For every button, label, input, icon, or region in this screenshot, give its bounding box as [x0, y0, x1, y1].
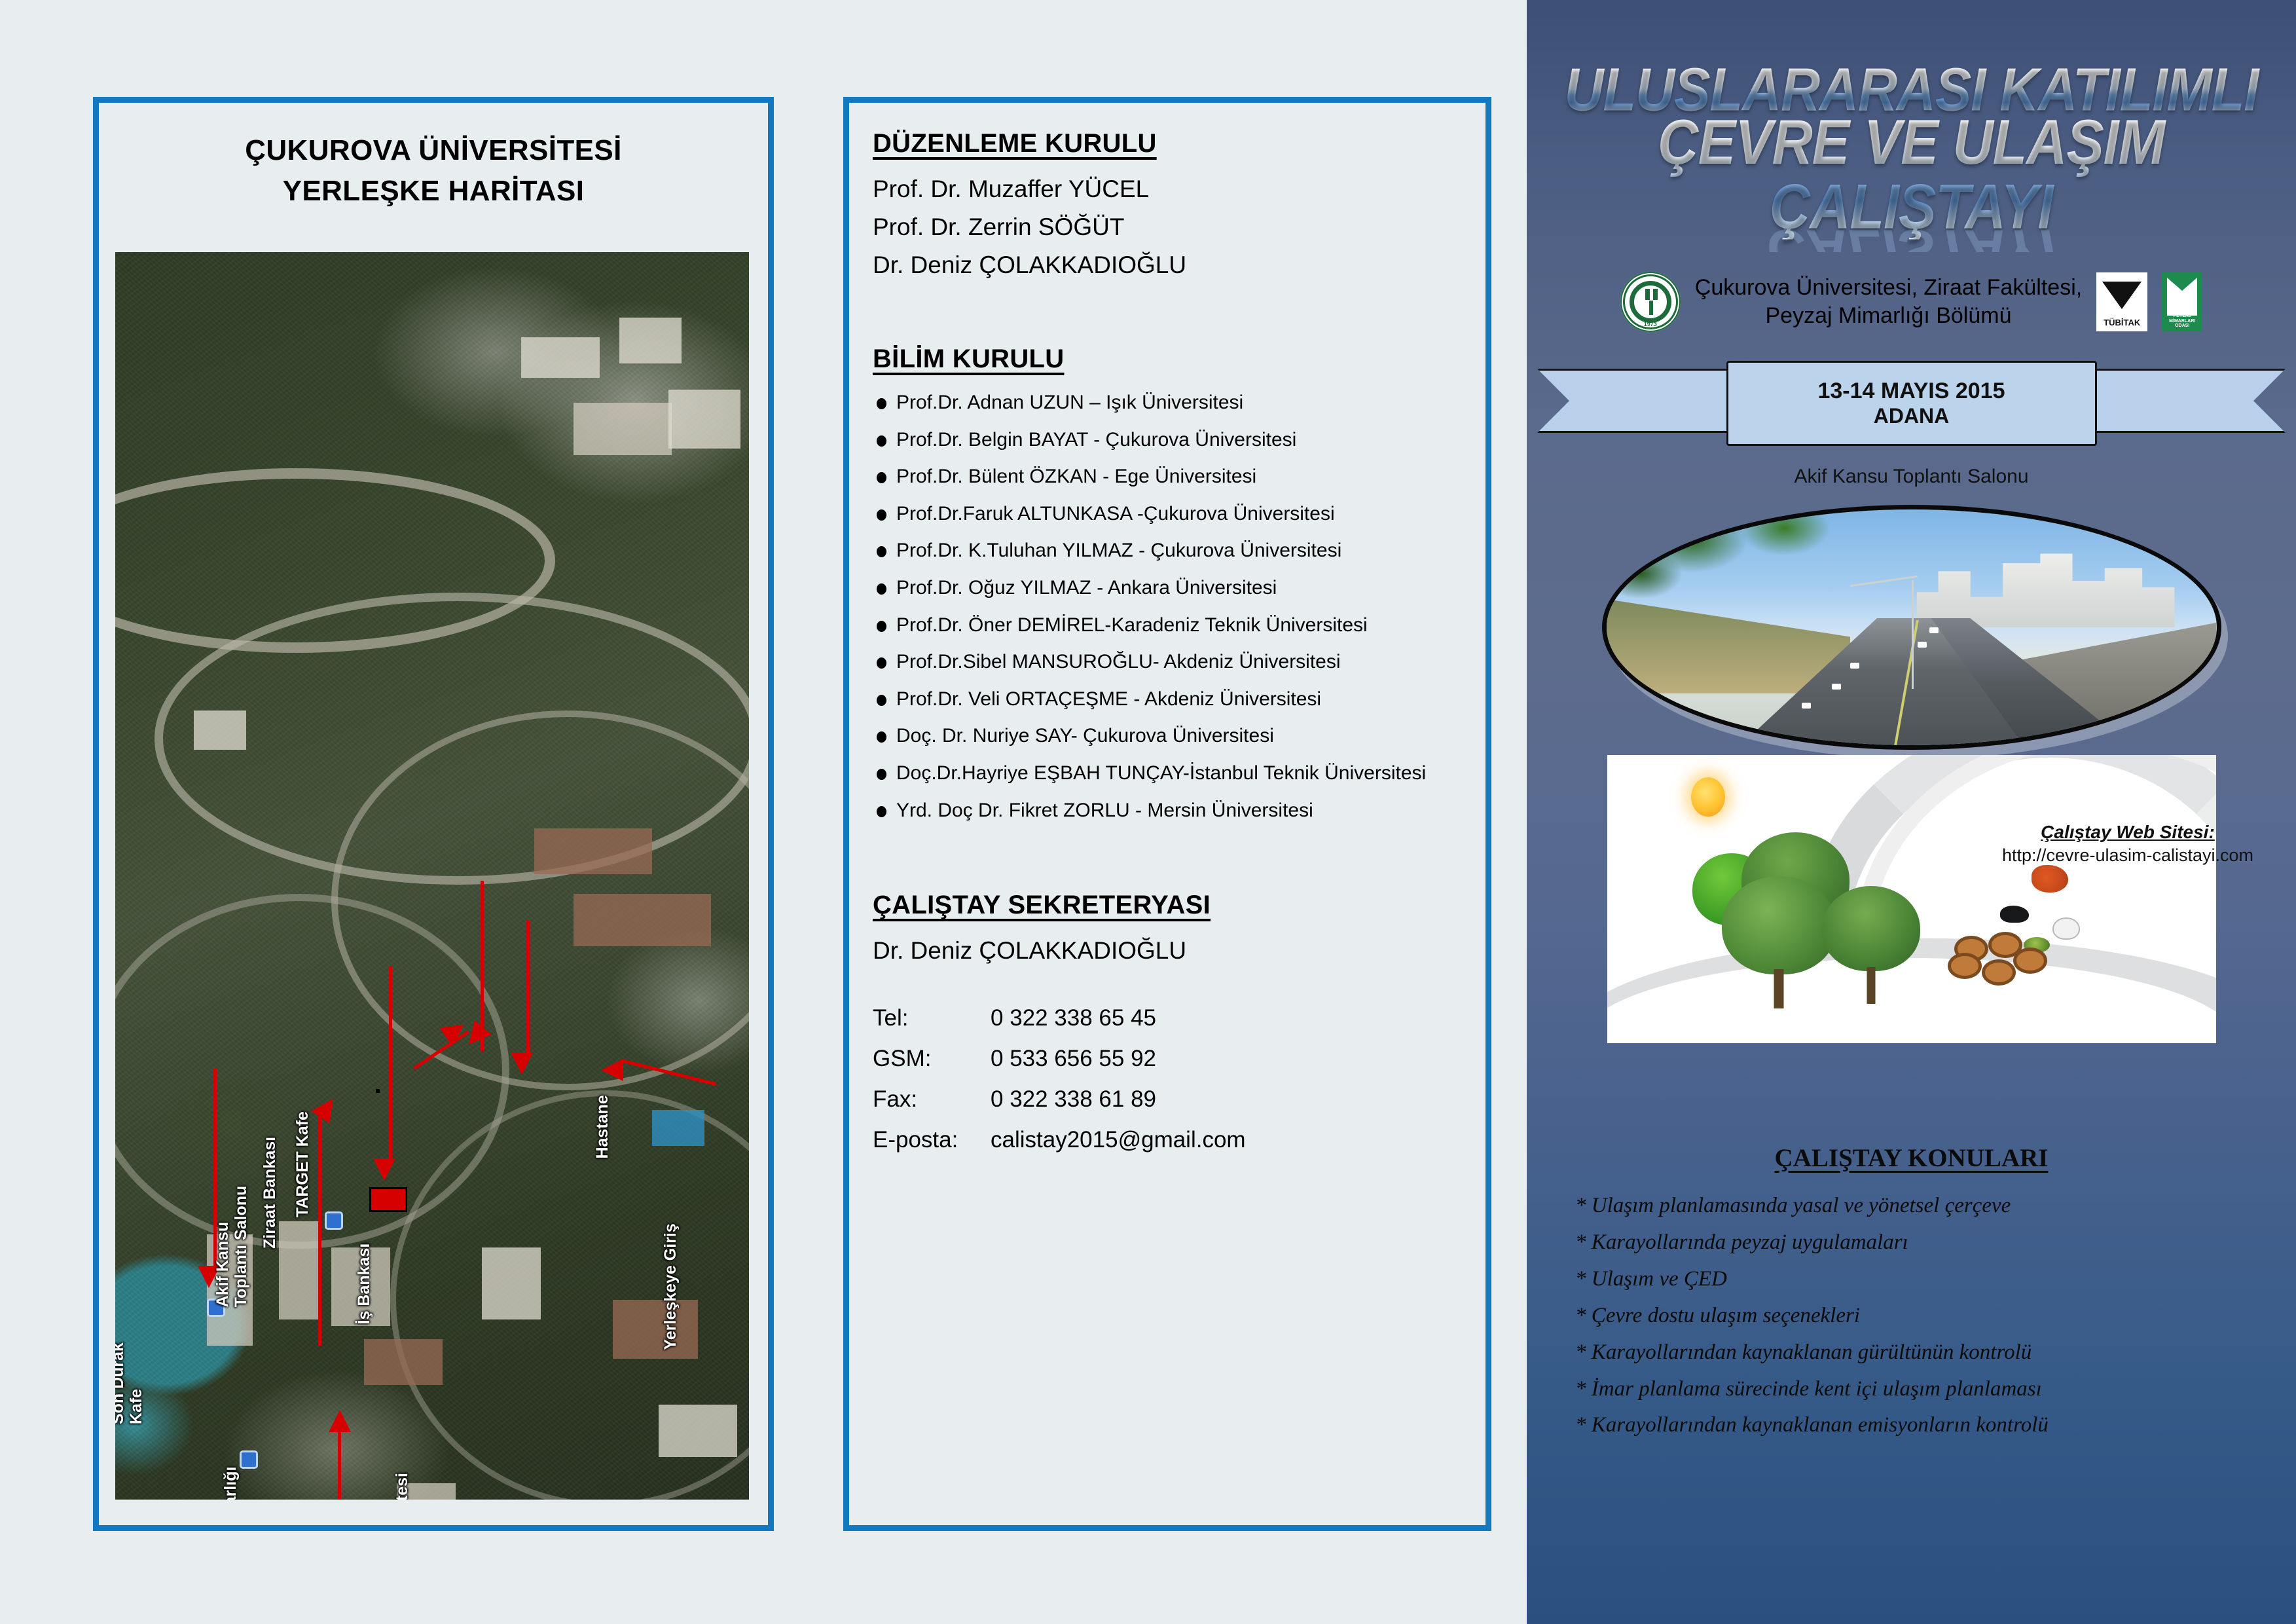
- scientific-member: Prof.Dr. K.Tuluhan YILMAZ - Çukurova Üni…: [873, 539, 1466, 563]
- organizing-member: Dr. Deniz ÇOLAKKADIOĞLU: [873, 251, 1466, 279]
- contact-row-tel: Tel: 0 322 338 65 45: [873, 1005, 1466, 1031]
- poster-title-line2: ÇEVRE VE ULAŞIM ÇALIŞTAYI: [1527, 111, 2296, 239]
- contact-label: E-posta:: [873, 1127, 991, 1153]
- contact-block: Tel: 0 322 338 65 45 GSM: 0 533 656 55 9…: [873, 1005, 1466, 1153]
- contact-value: 0 533 656 55 92: [991, 1046, 1466, 1072]
- topics-heading: ÇALIŞTAY KONULARI: [1563, 1143, 2259, 1173]
- poster-title: ULUSLARARASI KATILIMLI ÇEVRE VE ULAŞIM Ç…: [1527, 0, 2296, 232]
- logo-bar: [1653, 289, 1658, 300]
- map-pin: [325, 1211, 343, 1230]
- map-building: [482, 1247, 541, 1319]
- organizer-text: Çukurova Üniversitesi, Ziraat Fakültesi,…: [1695, 274, 2082, 331]
- scientific-member: Prof.Dr. Bülent ÖZKAN - Ege Üniversitesi: [873, 465, 1466, 489]
- photo-car: [1802, 703, 1811, 709]
- map-building: [521, 337, 600, 378]
- scientific-member: Prof.Dr.Faruk ALTUNKASA -Çukurova Üniver…: [873, 502, 1466, 526]
- photo-foliage: [1607, 509, 1893, 613]
- map-building: [659, 1405, 737, 1457]
- topic-item: Karayollarından kaynaklanan emisyonların…: [1575, 1412, 2259, 1439]
- map-label-cukurova-universitesi: Çukurova Üniversitesi: [393, 1473, 411, 1500]
- ribbon-left-tail: [1537, 369, 1738, 433]
- event-venue: Akif Kansu Toplantı Salonu: [1527, 466, 2296, 488]
- tree-stump: [1948, 953, 1982, 979]
- map-label-peyzaj-mimarligi-bolumu: Peyzaj Mimarlığı Bölümü: [221, 1467, 258, 1500]
- map-label-hastane: Hastane: [593, 1095, 611, 1158]
- tubitak-logo-text: TÜBİTAK: [2096, 318, 2147, 327]
- website-block: Çalıştay Web Sitesi: http://cevre-ulasim…: [1987, 822, 2269, 866]
- tubitak-logo: TÜBİTAK: [2096, 272, 2147, 331]
- map-venue-marker: [369, 1187, 407, 1212]
- logo-bar: [1645, 289, 1650, 300]
- contact-label: Fax:: [873, 1086, 991, 1113]
- map-label-yerleskeye-giris: Yerleşkeye Giriş: [661, 1223, 680, 1350]
- logo-year: 1973: [1620, 321, 1681, 327]
- secretariat-heading: ÇALIŞTAY SEKRETERYASI: [873, 891, 1466, 920]
- map-title-line2: YERLEŞKE HARİTASI: [99, 171, 768, 212]
- scientific-member: Prof.Dr.Sibel MANSUROĞLU- Akdeniz Üniver…: [873, 650, 1466, 674]
- map-arrow: [526, 920, 530, 1058]
- photo-car: [1918, 642, 1927, 648]
- scientific-member: Yrd. Doç Dr. Fikret ZORLU - Mersin Ünive…: [873, 799, 1466, 823]
- map-label-son-durak-kafe: Son Durak Kafe: [115, 1342, 145, 1424]
- topic-item: İmar planlama sürecinde kent içi ulaşım …: [1575, 1376, 2259, 1403]
- map-title-line1: ÇUKUROVA ÜNİVERSİTESİ: [99, 130, 768, 171]
- cukurova-university-logo: 1973: [1620, 272, 1681, 332]
- contact-label: Tel:: [873, 1005, 991, 1031]
- map-label-akif-kansu-toplanti-salonu: Akif Kansu Toplantı Salonu: [213, 1186, 250, 1308]
- contact-row-gsm: GSM: 0 533 656 55 92: [873, 1046, 1466, 1072]
- scientific-member: Prof.Dr. Adnan UZUN – Işık Üniversitesi: [873, 391, 1466, 415]
- organizer-line: 1973 Çukurova Üniversitesi, Ziraat Fakül…: [1527, 272, 2296, 332]
- map-building: [613, 1300, 698, 1359]
- scientific-committee-list: Prof.Dr. Adnan UZUN – Işık Üniversitesi …: [873, 391, 1466, 822]
- tree-crown: [1722, 876, 1836, 974]
- map-label-target-kafe: TARGET Kafe: [293, 1111, 312, 1217]
- map-building: [619, 318, 682, 363]
- workshop-topics: ÇALIŞTAY KONULARI Ulaşım planlamasında y…: [1527, 1143, 2296, 1449]
- scientific-member: Prof.Dr. Belgin BAYAT - Çukurova Ünivers…: [873, 428, 1466, 452]
- tree-stump: [1982, 959, 2016, 986]
- website-url[interactable]: http://cevre-ulasim-calistayi.com: [1987, 845, 2269, 866]
- event-date: 13-14 MAYIS 2015: [1817, 378, 2005, 404]
- photo-car: [1929, 627, 1939, 633]
- website-label: Çalıştay Web Sitesi:: [1987, 822, 2269, 843]
- scientific-member: Prof.Dr. Öner DEMİREL-Karadeniz Teknik Ü…: [873, 614, 1466, 638]
- map-building: [194, 710, 246, 750]
- map-building: [364, 1339, 443, 1385]
- organizing-member: Prof. Dr. Zerrin SÖĞÜT: [873, 213, 1466, 241]
- event-city: ADANA: [1874, 404, 1950, 428]
- map-arrow: [389, 966, 392, 1162]
- contact-row-email: E-posta: calistay2015@gmail.com: [873, 1127, 1466, 1153]
- topic-item: Ulaşım ve ÇED: [1575, 1266, 2259, 1293]
- map-label-is-bankasi: İş Bankası: [355, 1244, 373, 1325]
- map-venue-marker: [376, 1089, 380, 1093]
- contact-label: GSM:: [873, 1046, 991, 1072]
- photo-car: [1850, 663, 1859, 669]
- tubitak-triangle-icon: [2102, 282, 2141, 309]
- tree-crown: [1822, 886, 1920, 971]
- poster-title-reflection: ÇEVRE VE ULAŞIM ÇALIŞTAYI: [1527, 223, 2296, 252]
- scientific-member: Doç. Dr. Nuriye SAY- Çukurova Üniversite…: [873, 724, 1466, 748]
- map-building: [668, 390, 740, 449]
- map-label-ziraat-bankasi: Ziraat Bankası: [261, 1137, 279, 1249]
- peyzaj-mimarlari-odasi-logo: PEYZAJ MİMARLARI ODASI: [2162, 272, 2202, 331]
- tree-trunk: [1867, 967, 1875, 1004]
- environment-illustration: [1607, 755, 2216, 1043]
- topic-item: Çevre dostu ulaşım seçenekleri: [1575, 1302, 2259, 1329]
- map-building: [574, 894, 711, 946]
- poster-title-reflection-text: ÇEVRE VE ULAŞIM ÇALIŞTAYI: [1527, 223, 2296, 252]
- tree-stumps-icon: [1948, 931, 2052, 989]
- organizing-committee-heading: DÜZENLEME KURULU: [873, 129, 1466, 158]
- map-arrow: [318, 1116, 321, 1346]
- satellite-map-image: Son Durak Kafe Akif Kansu Toplantı Salon…: [115, 252, 749, 1500]
- map-arrow: [338, 1431, 341, 1500]
- organizer-line1: Çukurova Üniversitesi, Ziraat Fakültesi,: [1695, 274, 2082, 303]
- topic-item: Karayollarında peyzaj uygulamaları: [1575, 1229, 2259, 1256]
- ribbon-center: 13-14 MAYIS 2015 ADANA: [1726, 361, 2097, 446]
- map-building: [534, 828, 652, 874]
- contact-email-value[interactable]: calistay2015@gmail.com: [991, 1127, 1466, 1153]
- poster-panel: ULUSLARARASI KATILIMLI ÇEVRE VE ULAŞIM Ç…: [1527, 0, 2296, 1624]
- organizer-line2: Peyzaj Mimarlığı Bölümü: [1695, 302, 2082, 331]
- tree-icon: [1722, 876, 1836, 1007]
- fox-icon: [2032, 865, 2068, 893]
- map-panel-title: ÇUKUROVA ÜNİVERSİTESİ YERLEŞKE HARİTASI: [99, 130, 768, 212]
- topic-item: Ulaşım planlamasında yasal ve yönetsel ç…: [1575, 1192, 2259, 1219]
- scientific-member: Doç.Dr.Hayriye EŞBAH TUNÇAY-İstanbul Tek…: [873, 762, 1466, 786]
- campus-map-panel: ÇUKUROVA ÜNİVERSİTESİ YERLEŞKE HARİTASI: [93, 97, 774, 1531]
- map-swimming-pool: [652, 1110, 704, 1146]
- secretary-name: Dr. Deniz ÇOLAKKADIOĞLU: [873, 937, 1466, 965]
- map-arrowhead: [329, 1410, 351, 1432]
- topics-list: Ulaşım planlamasında yasal ve yönetsel ç…: [1563, 1192, 2259, 1439]
- map-arrowhead: [373, 1158, 395, 1181]
- date-ribbon: 13-14 MAYIS 2015 ADANA: [1527, 357, 2296, 462]
- map-arrowhead: [511, 1052, 533, 1075]
- tree-trunk: [1774, 969, 1784, 1008]
- photo-light-pole: [1912, 580, 1914, 689]
- dog-icon: [2000, 906, 2029, 923]
- contact-value: 0 322 338 65 45: [991, 1005, 1466, 1031]
- ribbon-right-tail: [2085, 369, 2286, 433]
- sun-icon: [1691, 777, 1725, 817]
- rabbit-icon: [2052, 917, 2080, 940]
- map-building: [574, 403, 672, 455]
- scientific-member: Prof.Dr. Veli ORTAÇEŞME - Akdeniz Üniver…: [873, 688, 1466, 712]
- contact-value: 0 322 338 61 89: [991, 1086, 1466, 1113]
- committee-panel: DÜZENLEME KURULU Prof. Dr. Muzaffer YÜCE…: [843, 97, 1491, 1531]
- map-pin: [240, 1450, 258, 1469]
- scientific-member: Prof.Dr. Oğuz YILMAZ - Ankara Üniversite…: [873, 576, 1466, 600]
- map-building: [279, 1221, 318, 1319]
- logo-chevron-icon: [2167, 278, 2197, 291]
- logo-text: PEYZAJ MİMARLARI ODASI: [2162, 314, 2202, 329]
- photo-car: [1832, 684, 1841, 690]
- map-arrowhead: [601, 1059, 623, 1081]
- brochure-page: ÇUKUROVA ÜNİVERSİTESİ YERLEŞKE HARİTASI: [0, 0, 2296, 1624]
- contact-row-fax: Fax: 0 322 338 61 89: [873, 1086, 1466, 1113]
- topic-item: Karayollarından kaynaklanan gürültünün k…: [1575, 1339, 2259, 1366]
- tree-icon: [1822, 886, 1920, 1004]
- organizing-member: Prof. Dr. Muzaffer YÜCEL: [873, 175, 1466, 203]
- tree-stump: [2013, 948, 2047, 974]
- scientific-committee-heading: BİLİM KURULU: [873, 344, 1466, 374]
- logo-stem: [1649, 301, 1653, 315]
- highway-photo: [1602, 505, 2221, 750]
